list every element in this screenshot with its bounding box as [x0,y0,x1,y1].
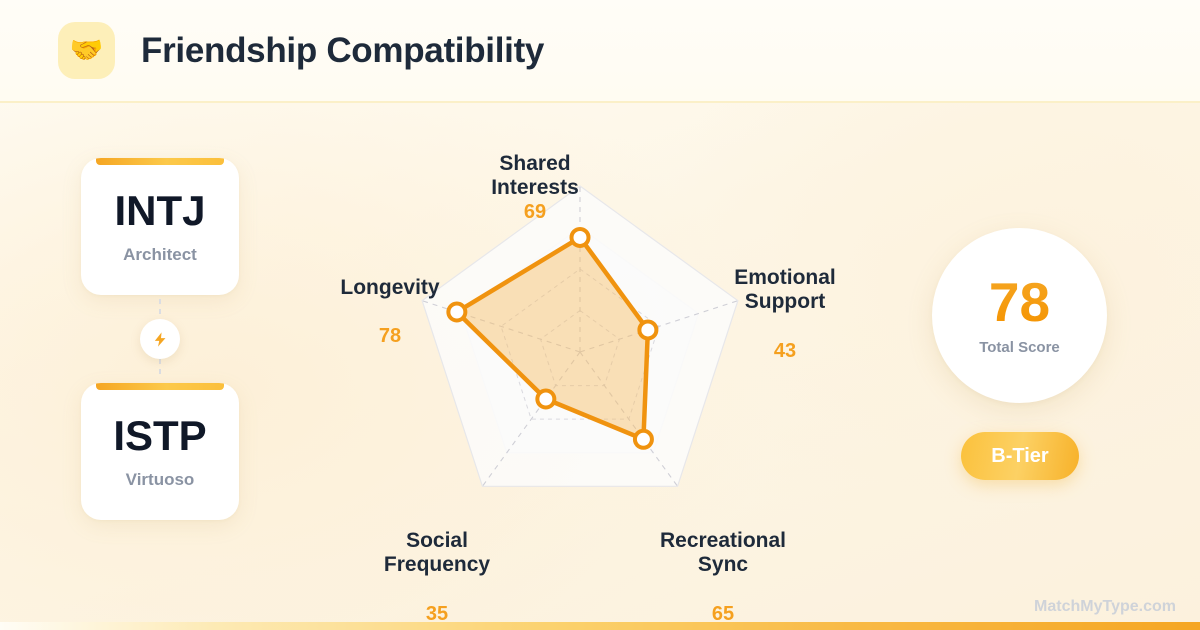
axis-label-longevity: Longevity 78 [275,252,505,349]
axis-value-text: 43 [774,340,796,362]
axis-label-text: Social Frequency [384,529,490,576]
axis-label-emotional-support: Emotional Support 43 [670,242,900,363]
axis-label-text: Recreational Sync [660,529,786,576]
types-connector [81,295,239,383]
handshake-icon: 🤝 [58,22,115,79]
axis-label-text: Emotional Support [734,266,836,313]
type-name-first: Architect [123,245,197,265]
axis-value-text: 78 [379,325,401,347]
type-card-second[interactable]: ISTP Virtuoso [81,383,239,520]
footer-brand: MatchMyType.com [1034,598,1176,616]
axis-value-text: 69 [524,201,546,223]
total-score-value: 78 [989,275,1050,330]
page-title: Friendship Compatibility [141,31,544,71]
radar-point-0 [572,229,589,246]
axis-label-social-frequency: Social Frequency 35 [322,505,552,626]
lightning-bolt-icon [140,319,180,359]
axis-label-recreational-sync: Recreational Sync 65 [608,505,838,626]
type-name-second: Virtuoso [126,470,195,490]
type-card-first[interactable]: INTJ Architect [81,158,239,295]
axis-label-shared-interests: Shared Interests 69 [420,128,650,225]
radar-point-3 [537,391,554,408]
total-score-label: Total Score [979,339,1060,356]
poster-canvas: 🤝 Friendship Compatibility INTJ Architec… [0,0,1200,630]
radar-chart: Shared Interests 69 Emotional Support 43… [280,110,900,610]
bottom-accent-bar [0,622,1200,630]
axis-label-text: Longevity [340,276,439,299]
type-code-second: ISTP [113,415,206,457]
axis-label-text: Shared Interests [491,152,579,199]
personality-types-panel: INTJ Architect ISTP Virtuoso [81,158,239,520]
card-accent-bar [96,158,224,165]
radar-point-2 [635,431,652,448]
radar-point-1 [639,321,656,338]
tier-badge: B-Tier [961,432,1079,480]
type-code-first: INTJ [114,190,205,232]
header-bar: 🤝 Friendship Compatibility [0,0,1200,103]
card-accent-bar [96,383,224,390]
total-score-circle: 78 Total Score [932,228,1107,403]
